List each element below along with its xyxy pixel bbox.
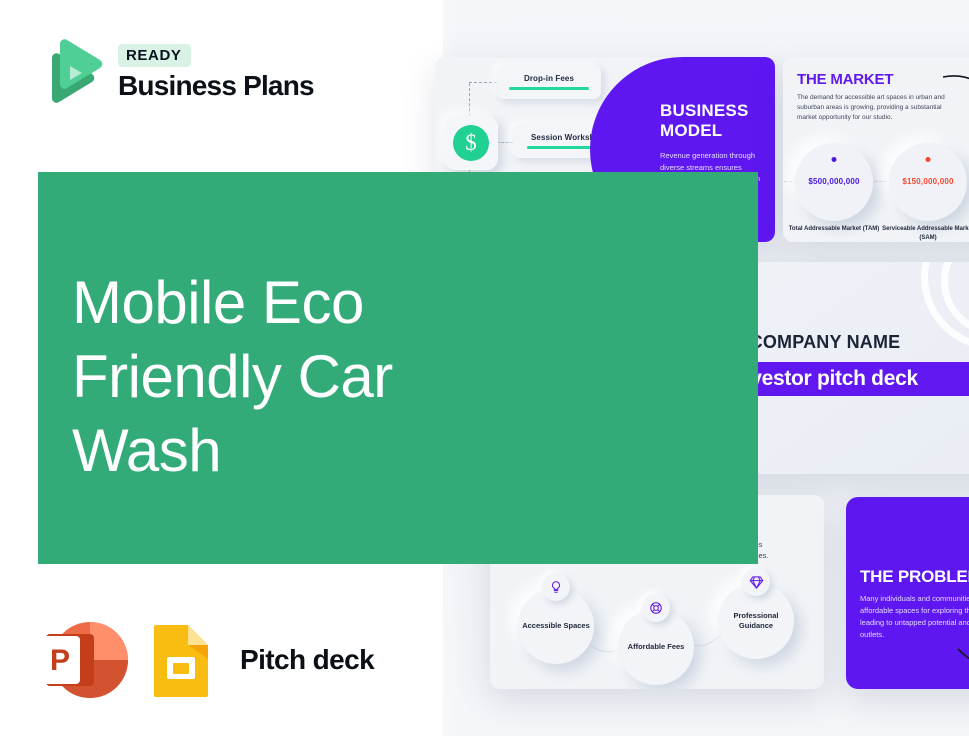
market-metric-value: $500,000,000 xyxy=(795,177,873,186)
lifebuoy-icon xyxy=(642,594,670,622)
lightbulb-icon xyxy=(542,573,570,601)
problem-title: THE PROBLEM xyxy=(860,567,969,587)
diamond-icon xyxy=(742,568,770,596)
metric-dot-icon xyxy=(832,157,837,162)
brand-name: Business Plans xyxy=(118,69,314,103)
solution-node-label: Affordable Fees xyxy=(628,642,685,652)
page-title: Mobile Eco Friendly Car Wash xyxy=(72,266,472,488)
solution-node-label: Accessible Spaces xyxy=(522,621,590,631)
market-metric-caption: Serviceable Addressable Market (SAM) xyxy=(880,225,969,242)
metric-dot-icon xyxy=(926,157,931,162)
revenue-stream-item[interactable]: Drop-in Fees xyxy=(497,65,601,99)
curved-arrow-icon xyxy=(941,71,969,115)
market-metric-sam[interactable]: $150,000,000 xyxy=(889,143,967,221)
brand-badge: READY xyxy=(118,44,191,67)
business-model-title: BUSINESS MODEL xyxy=(660,101,761,141)
connector-line xyxy=(497,142,513,143)
slide-problem[interactable]: THE PROBLEM Many individuals and communi… xyxy=(846,497,969,689)
play-triangle-logo-icon xyxy=(42,36,104,110)
solution-node-label: Professional Guidance xyxy=(718,611,794,631)
market-metric-caption: Total Addressable Market (TAM) xyxy=(786,225,882,234)
revenue-stream-label: Drop-in Fees xyxy=(524,74,574,83)
google-slides-icon[interactable] xyxy=(152,623,210,697)
dollar-sign-icon: $ xyxy=(453,125,489,161)
microsoft-powerpoint-icon[interactable]: P xyxy=(40,618,130,702)
problem-description: Many individuals and communities lack ac… xyxy=(860,593,969,641)
svg-text:P: P xyxy=(50,644,70,677)
format-label: Pitch deck xyxy=(240,644,374,676)
market-metric-value: $150,000,000 xyxy=(889,177,967,186)
format-row: P Pitch deck xyxy=(40,618,374,702)
curved-arrow-icon xyxy=(956,645,969,685)
poster-root: $ Drop-in Fees Session Workshops Commiss… xyxy=(0,0,969,744)
accent-bar xyxy=(509,87,588,90)
market-title: THE MARKET xyxy=(797,71,893,88)
brand-logo[interactable]: READY Business Plans xyxy=(42,36,314,110)
connector-line xyxy=(469,82,497,83)
dollar-card: $ xyxy=(444,116,498,170)
market-description: The demand for accessible art spaces in … xyxy=(797,93,957,123)
market-metric-tam[interactable]: $500,000,000 xyxy=(795,143,873,221)
slide-market[interactable]: THE MARKET The demand for accessible art… xyxy=(783,57,969,242)
